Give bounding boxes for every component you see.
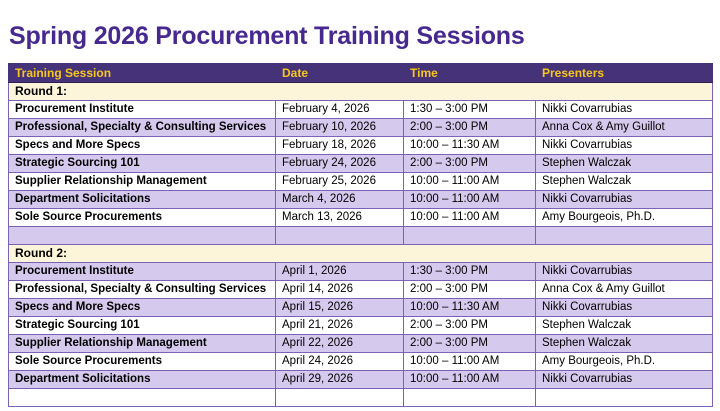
column-header-date[interactable]: Date bbox=[276, 64, 404, 83]
cell-date: February 25, 2026 bbox=[276, 173, 404, 191]
table-row[interactable]: Strategic Sourcing 101February 24, 20262… bbox=[9, 155, 713, 173]
cell-session: Sole Source Procurements bbox=[9, 353, 276, 371]
table-row[interactable]: Sole Source ProcurementsApril 24, 202610… bbox=[9, 353, 713, 371]
cell-presenters: Anna Cox & Amy Guillot bbox=[536, 119, 713, 137]
cell-time: 10:00 – 11:00 AM bbox=[404, 209, 536, 227]
cell-presenters: Stephen Walczak bbox=[536, 155, 713, 173]
cell-time: 2:00 – 3:00 PM bbox=[404, 335, 536, 353]
column-header-session[interactable]: Training Session bbox=[9, 64, 276, 83]
table-row[interactable]: Professional, Specialty & Consulting Ser… bbox=[9, 119, 713, 137]
cell-date: April 15, 2026 bbox=[276, 299, 404, 317]
spacer-cell-date bbox=[276, 227, 404, 245]
spacer-row bbox=[9, 389, 713, 407]
table-row[interactable]: Department SolicitationsMarch 4, 202610:… bbox=[9, 191, 713, 209]
cell-time: 10:00 – 11:00 AM bbox=[404, 191, 536, 209]
round-separator-row: Round 2: bbox=[9, 245, 713, 263]
cell-time: 10:00 – 11:30 AM bbox=[404, 299, 536, 317]
page-title: Spring 2026 Procurement Training Session… bbox=[9, 19, 525, 53]
table-head: Training Session Date Time Presenters bbox=[9, 64, 713, 83]
column-header-time[interactable]: Time bbox=[404, 64, 536, 83]
table-row[interactable]: Procurement InstituteFebruary 4, 20261:3… bbox=[9, 101, 713, 119]
spacer-row bbox=[9, 227, 713, 245]
cell-time: 10:00 – 11:00 AM bbox=[404, 173, 536, 191]
cell-date: February 4, 2026 bbox=[276, 101, 404, 119]
table-row[interactable]: Specs and More SpecsFebruary 18, 202610:… bbox=[9, 137, 713, 155]
cell-presenters: Nikki Covarrubias bbox=[536, 263, 713, 281]
table-body: Round 1:Procurement InstituteFebruary 4,… bbox=[9, 83, 713, 407]
cell-session: Procurement Institute bbox=[9, 263, 276, 281]
cell-time: 10:00 – 11:00 AM bbox=[404, 371, 536, 389]
table-header-row: Training Session Date Time Presenters bbox=[9, 64, 713, 83]
cell-presenters: Stephen Walczak bbox=[536, 317, 713, 335]
cell-date: February 24, 2026 bbox=[276, 155, 404, 173]
cell-date: April 24, 2026 bbox=[276, 353, 404, 371]
column-header-presenters[interactable]: Presenters bbox=[536, 64, 713, 83]
table-row[interactable]: Supplier Relationship ManagementApril 22… bbox=[9, 335, 713, 353]
cell-time: 1:30 – 3:00 PM bbox=[404, 101, 536, 119]
cell-presenters: Nikki Covarrubias bbox=[536, 191, 713, 209]
cell-presenters: Stephen Walczak bbox=[536, 173, 713, 191]
schedule-table-container: Training Session Date Time Presenters Ro… bbox=[8, 63, 712, 407]
cell-presenters: Amy Bourgeois, Ph.D. bbox=[536, 353, 713, 371]
cell-time: 2:00 – 3:00 PM bbox=[404, 317, 536, 335]
cell-date: March 13, 2026 bbox=[276, 209, 404, 227]
cell-presenters: Nikki Covarrubias bbox=[536, 371, 713, 389]
spacer-cell-presenters bbox=[536, 227, 713, 245]
cell-session: Strategic Sourcing 101 bbox=[9, 155, 276, 173]
cell-session: Department Solicitations bbox=[9, 371, 276, 389]
table-row[interactable]: Procurement InstituteApril 1, 20261:30 –… bbox=[9, 263, 713, 281]
cell-time: 2:00 – 3:00 PM bbox=[404, 119, 536, 137]
cell-presenters: Nikki Covarrubias bbox=[536, 101, 713, 119]
cell-session: Sole Source Procurements bbox=[9, 209, 276, 227]
cell-session: Specs and More Specs bbox=[9, 137, 276, 155]
spacer-cell-date bbox=[276, 389, 404, 407]
cell-date: April 14, 2026 bbox=[276, 281, 404, 299]
spacer-cell-session bbox=[9, 389, 276, 407]
table-row[interactable]: Department SolicitationsApril 29, 202610… bbox=[9, 371, 713, 389]
cell-presenters: Amy Bourgeois, Ph.D. bbox=[536, 209, 713, 227]
cell-session: Procurement Institute bbox=[9, 101, 276, 119]
spacer-cell-time bbox=[404, 227, 536, 245]
cell-presenters: Nikki Covarrubias bbox=[536, 137, 713, 155]
cell-date: February 10, 2026 bbox=[276, 119, 404, 137]
cell-time: 10:00 – 11:30 AM bbox=[404, 137, 536, 155]
table-row[interactable]: Professional, Specialty & Consulting Ser… bbox=[9, 281, 713, 299]
cell-presenters: Stephen Walczak bbox=[536, 335, 713, 353]
cell-date: April 29, 2026 bbox=[276, 371, 404, 389]
table-row[interactable]: Specs and More SpecsApril 15, 202610:00 … bbox=[9, 299, 713, 317]
round-separator-row: Round 1: bbox=[9, 83, 713, 101]
cell-time: 2:00 – 3:00 PM bbox=[404, 155, 536, 173]
cell-date: April 21, 2026 bbox=[276, 317, 404, 335]
spacer-cell-time bbox=[404, 389, 536, 407]
cell-session: Professional, Specialty & Consulting Ser… bbox=[9, 281, 276, 299]
cell-session: Specs and More Specs bbox=[9, 299, 276, 317]
cell-date: March 4, 2026 bbox=[276, 191, 404, 209]
spacer-cell-presenters bbox=[536, 389, 713, 407]
round-label: Round 1: bbox=[9, 83, 713, 101]
table-row[interactable]: Strategic Sourcing 101April 21, 20262:00… bbox=[9, 317, 713, 335]
cell-date: April 1, 2026 bbox=[276, 263, 404, 281]
cell-session: Supplier Relationship Management bbox=[9, 173, 276, 191]
cell-presenters: Anna Cox & Amy Guillot bbox=[536, 281, 713, 299]
table-row[interactable]: Sole Source ProcurementsMarch 13, 202610… bbox=[9, 209, 713, 227]
cell-session: Professional, Specialty & Consulting Ser… bbox=[9, 119, 276, 137]
cell-presenters: Nikki Covarrubias bbox=[536, 299, 713, 317]
table-row[interactable]: Supplier Relationship ManagementFebruary… bbox=[9, 173, 713, 191]
cell-session: Department Solicitations bbox=[9, 191, 276, 209]
cell-session: Strategic Sourcing 101 bbox=[9, 317, 276, 335]
round-label: Round 2: bbox=[9, 245, 713, 263]
training-schedule-table: Training Session Date Time Presenters Ro… bbox=[8, 63, 713, 407]
cell-time: 2:00 – 3:00 PM bbox=[404, 281, 536, 299]
cell-date: February 18, 2026 bbox=[276, 137, 404, 155]
cell-date: April 22, 2026 bbox=[276, 335, 404, 353]
document-page: Spring 2026 Procurement Training Session… bbox=[0, 0, 720, 411]
cell-time: 1:30 – 3:00 PM bbox=[404, 263, 536, 281]
cell-time: 10:00 – 11:00 AM bbox=[404, 353, 536, 371]
spacer-cell-session bbox=[9, 227, 276, 245]
cell-session: Supplier Relationship Management bbox=[9, 335, 276, 353]
